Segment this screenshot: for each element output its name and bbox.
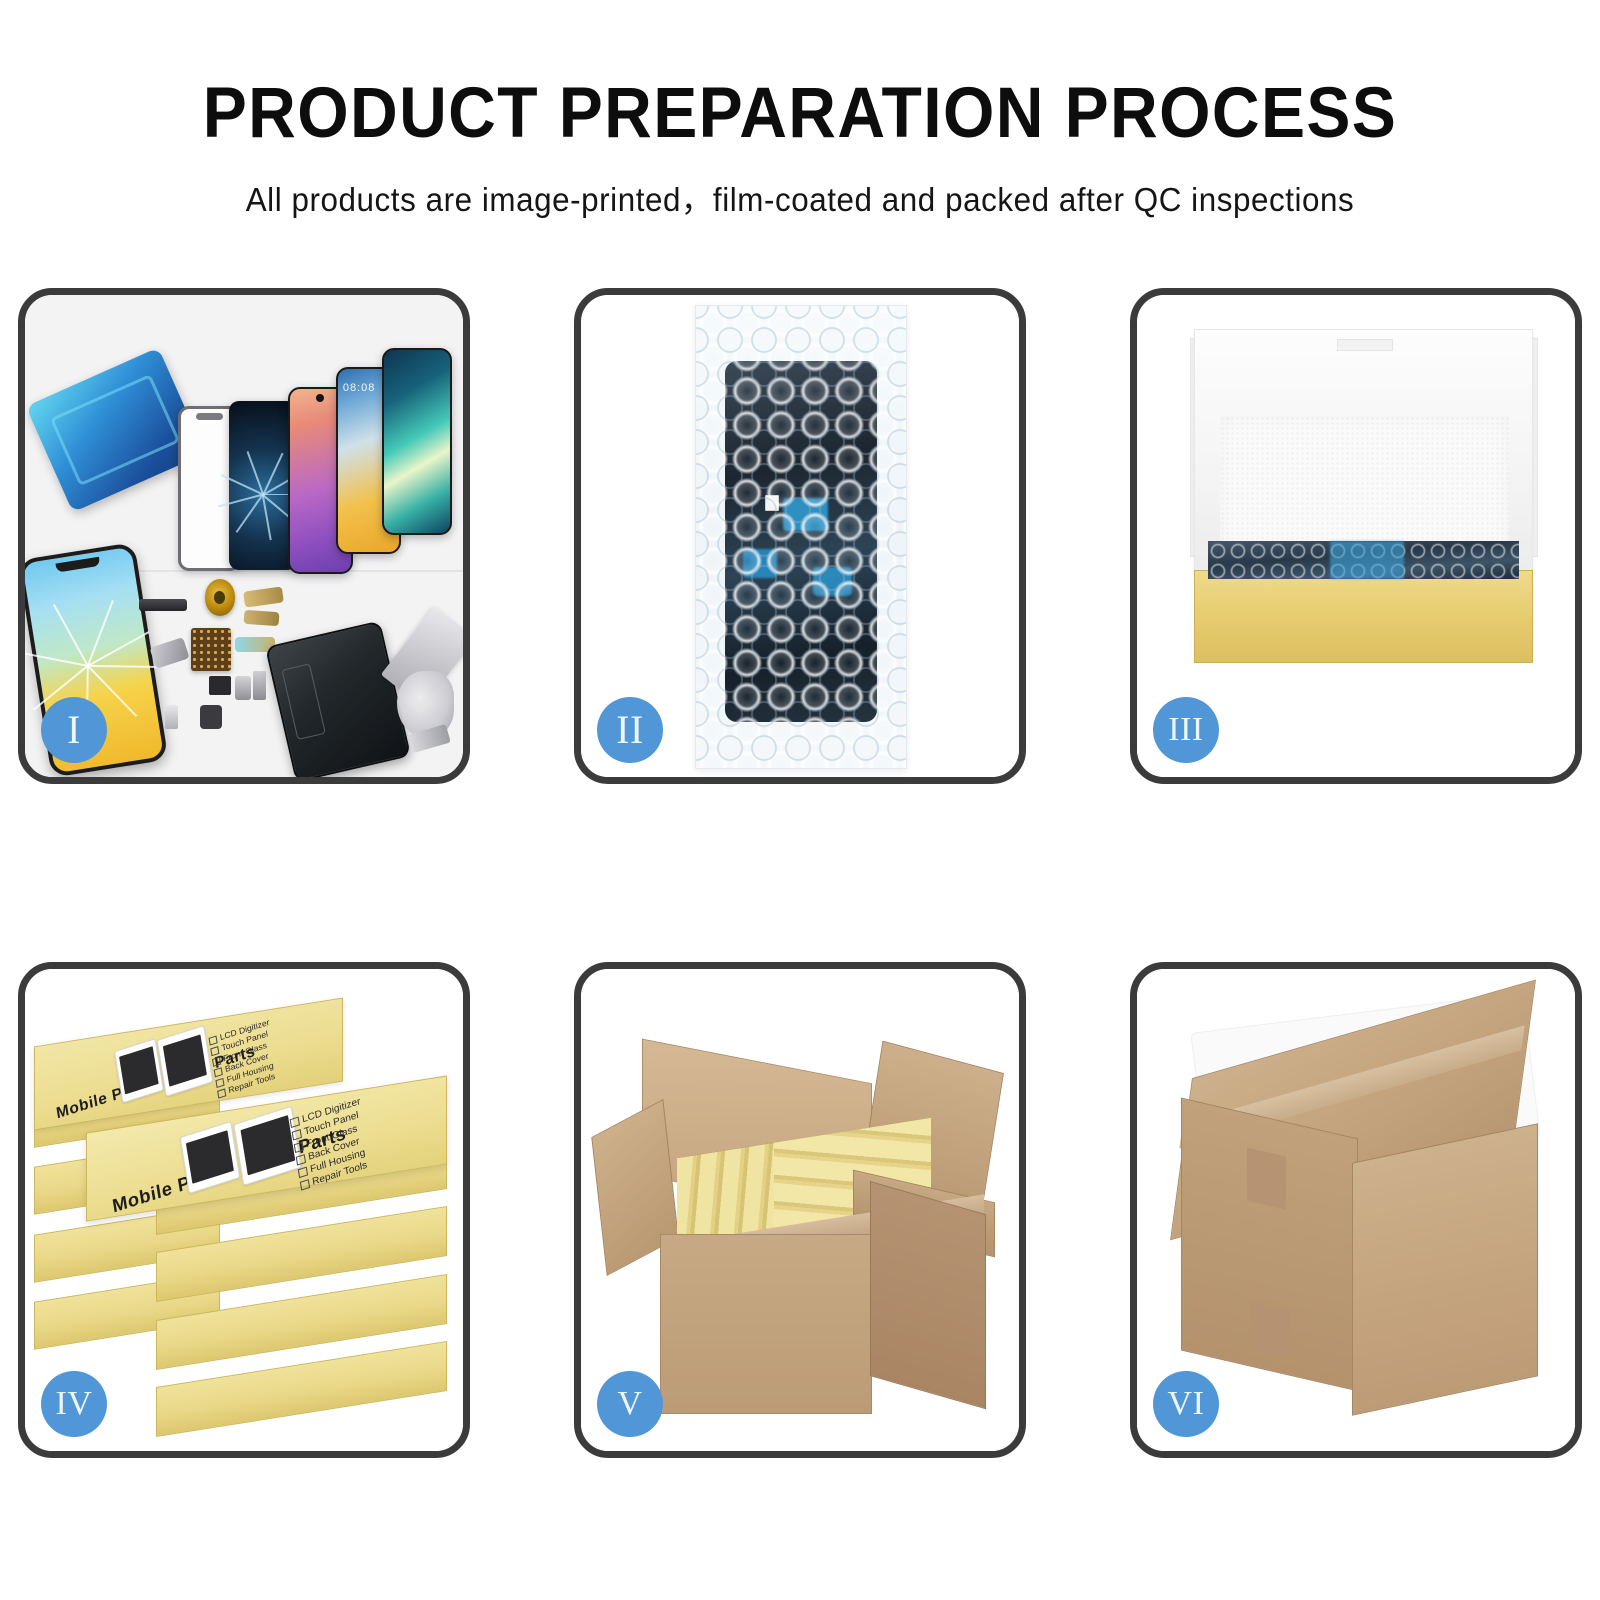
mailer-lid-tab: [1337, 339, 1393, 351]
process-step-panel-6[interactable]: VI: [1130, 962, 1582, 1458]
retail-box-screen-photo: [114, 1038, 164, 1104]
page-header: PRODUCT PREPARATION PROCESS All products…: [0, 0, 1600, 221]
tape-seal-lower: [1251, 1302, 1290, 1359]
kraft-mailer-tray: [1194, 570, 1533, 664]
small-component-1: [209, 676, 231, 695]
retail-box-screen-photo: [156, 1025, 213, 1097]
phone-display-teal: [382, 348, 452, 535]
step-badge-6: VI: [1153, 1371, 1219, 1437]
flex-cable-part-b: [244, 609, 280, 626]
wrapped-lcd-screen: [725, 361, 876, 722]
step-badge-4: IV: [41, 1371, 107, 1437]
process-step-panel-5[interactable]: V: [574, 962, 1026, 1458]
cracked-screen-part: [229, 401, 297, 570]
earpiece-mesh-part: [139, 599, 187, 612]
wireless-charging-coil-part: [205, 579, 236, 615]
process-step-panel-4[interactable]: Mobile Phone Spare Parts LCD Digitizer T…: [18, 962, 470, 1458]
blue-film-highlight-3: [813, 567, 852, 596]
step-badge-2: II: [597, 697, 663, 763]
step-badge-5: V: [597, 1371, 663, 1437]
blue-film-highlight: [1330, 541, 1404, 579]
product-sticker: [765, 495, 779, 511]
tape-seal-upper: [1247, 1148, 1286, 1210]
process-step-panel-2[interactable]: II: [574, 288, 1026, 784]
retail-box-screen-photo: [180, 1121, 241, 1194]
small-component-2: [235, 676, 251, 700]
sim-tray-part: [165, 705, 178, 729]
blue-film-highlight-1: [783, 498, 828, 530]
sealed-carton-right-face: [1352, 1123, 1538, 1415]
blue-film-highlight-2: [743, 549, 776, 578]
carton-right-face: [870, 1181, 986, 1409]
process-step-panel-3[interactable]: III: [1130, 288, 1582, 784]
step-badge-3: III: [1153, 697, 1219, 763]
retail-box-checklist: LCD Digitizer Touch Panel Front Glass Ba…: [208, 1017, 279, 1100]
camera-module-part: [253, 671, 266, 700]
process-step-panel-1[interactable]: 08:08: [18, 288, 470, 784]
carton-front-face: [660, 1234, 872, 1414]
page-title: PRODUCT PREPARATION PROCESS: [56, 78, 1544, 149]
step-badge-1: I: [41, 697, 107, 763]
checkbox-icon: [217, 1088, 226, 1098]
checkbox-icon: [300, 1179, 310, 1190]
bubble-wrap-bag: [695, 305, 907, 770]
ic-chip-part: [191, 628, 230, 671]
process-step-grid: 08:08: [18, 288, 1582, 1458]
small-component-3: [200, 705, 222, 729]
phone-clock-label: 08:08: [343, 382, 376, 394]
page-subtitle: All products are image-printed，film-coat…: [40, 173, 1560, 221]
